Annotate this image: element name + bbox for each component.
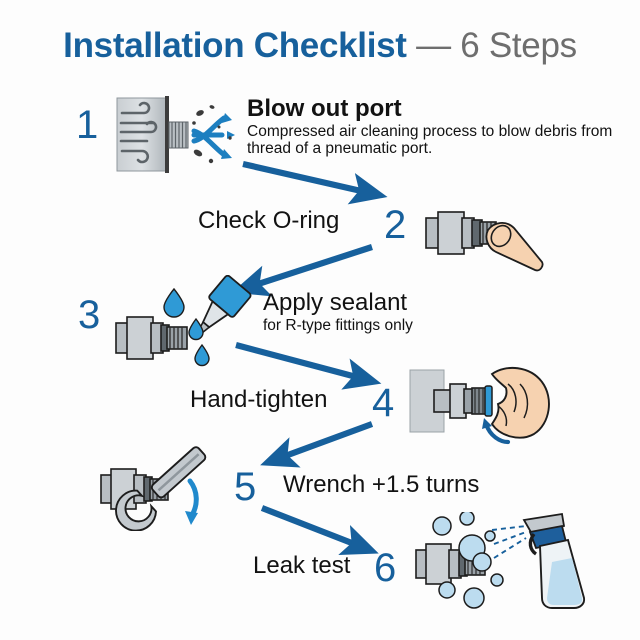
step-number-4: 4 (372, 383, 394, 423)
step-title-2: Check O-ring (198, 208, 339, 235)
step-title-6: Leak test (253, 553, 350, 580)
step-subtitle-3: for R-type fittings only (263, 317, 413, 334)
wrench-fitting-rotate-icon (98, 443, 238, 531)
step-number-2: 2 (384, 205, 406, 245)
step-title-1: Blow out port (247, 96, 617, 123)
step-caption-6: Leak test (253, 553, 350, 580)
page-title-subtitle: — 6 Steps (416, 26, 577, 65)
step-number-3: 3 (78, 295, 100, 335)
page-title-main: Installation Checklist (63, 26, 407, 65)
step-number-1: 1 (76, 105, 98, 145)
step-title-5: Wrench +1.5 turns (283, 472, 479, 499)
step-caption-1: Blow out port Compressed air cleaning pr… (247, 96, 617, 158)
step-title-4: Hand-tighten (190, 387, 327, 414)
infographic-canvas: Installation Checklist — 6 Steps 1 (0, 0, 640, 640)
arrow-step-1-to-2 (243, 164, 370, 193)
arrow-step-4-to-5 (277, 424, 372, 459)
hand-tighten-fitting-icon (408, 362, 558, 460)
step-title-3: Apply sealant (263, 290, 413, 317)
step-caption-4: Hand-tighten (190, 387, 327, 414)
fitting-finger-oring-icon (418, 196, 548, 280)
step-caption-3: Apply sealant for R-type fittings only (263, 290, 413, 334)
step-number-6: 6 (374, 548, 396, 588)
arrow-step-5-to-6 (262, 508, 362, 547)
step-subtitle-1: Compressed air cleaning process to blow … (247, 123, 617, 158)
air-blow-port-icon (112, 95, 238, 177)
step-caption-2: Check O-ring (198, 208, 339, 235)
spray-bottle-bubbles-icon (412, 512, 592, 612)
sealant-bottle-drops-icon (112, 275, 272, 375)
page-title: Installation Checklist — 6 Steps (0, 26, 640, 66)
step-caption-5: Wrench +1.5 turns (283, 472, 479, 499)
step-number-5: 5 (234, 467, 256, 507)
